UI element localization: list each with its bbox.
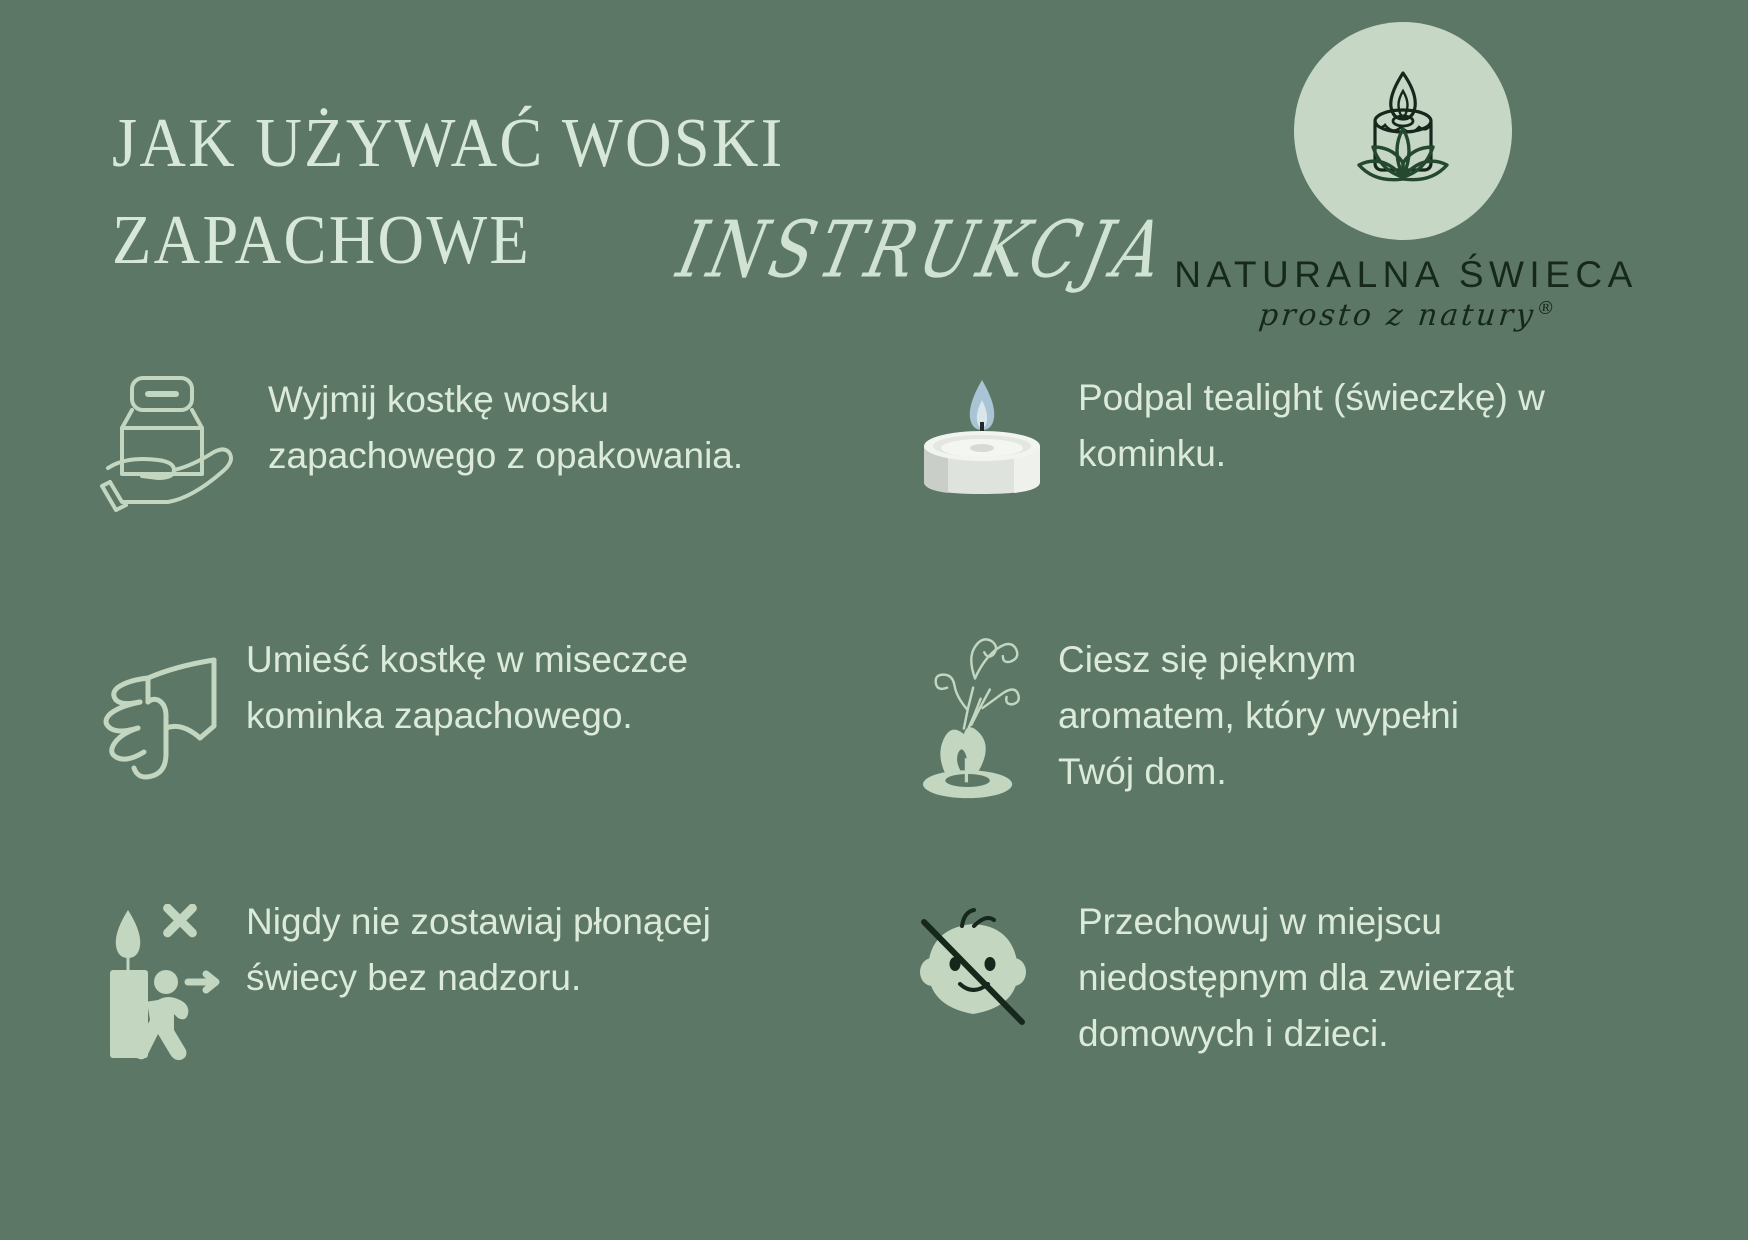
script-subtitle: INSTRUKCJA bbox=[670, 206, 1178, 296]
step-line: Umieść kostkę w miseczce bbox=[246, 632, 688, 688]
step-line: Nigdy nie zostawiaj płonącej bbox=[246, 894, 711, 950]
step-text-4: Ciesz się pięknym aromatem, który wypełn… bbox=[1040, 628, 1459, 801]
step-line: kominku. bbox=[1078, 426, 1545, 482]
step-line: domowych i dzieci. bbox=[1078, 1006, 1514, 1062]
tagline-text: prosto z natury bbox=[1257, 298, 1538, 333]
step-line: Przechowuj w miejscu bbox=[1078, 894, 1514, 950]
step-item-4: Ciesz się pięknym aromatem, który wypełn… bbox=[874, 628, 1748, 890]
step-text-6: Przechowuj w miejscu niedostępnym dla zw… bbox=[1060, 890, 1514, 1063]
step-line: niedostępnym dla zwierząt bbox=[1078, 950, 1514, 1006]
aroma-swirls-candle-icon bbox=[910, 614, 1040, 764]
step-text-1: Wyjmij kostkę wosku zapachowego z opakow… bbox=[246, 366, 743, 484]
brand-name: NATURALNA ŚWIECA bbox=[1174, 254, 1638, 296]
instruction-poster: JAK UŻYWAĆ WOSKI ZAPACHOWE INSTRUKCJA bbox=[0, 0, 1748, 1240]
brand-tagline: prosto z natury® bbox=[1257, 298, 1556, 333]
title-line-1: JAK UŻYWAĆ WOSKI bbox=[112, 96, 866, 193]
step-item-6: Przechowuj w miejscu niedostępnym dla zw… bbox=[874, 890, 1748, 1152]
brand-logo: NATURALNA ŚWIECA prosto z natury® bbox=[1196, 22, 1616, 333]
step-line: aromatem, który wypełni bbox=[1058, 688, 1459, 744]
registered-mark: ® bbox=[1535, 298, 1555, 319]
step-item-5: Nigdy nie zostawiaj płonącej świecy bez … bbox=[0, 890, 874, 1152]
tealight-candle-icon bbox=[910, 370, 1060, 520]
step-text-2: Podpal tealight (świeczkę) w kominku. bbox=[1060, 366, 1545, 482]
step-line: Twój dom. bbox=[1058, 744, 1459, 800]
step-item-3: Umieść kostkę w miseczce kominka zapacho… bbox=[0, 628, 874, 890]
step-text-3: Umieść kostkę w miseczce kominka zapacho… bbox=[246, 628, 688, 744]
step-line: Ciesz się pięknym bbox=[1058, 632, 1459, 688]
hand-holding-jar-icon bbox=[96, 366, 246, 516]
step-item-1: Wyjmij kostkę wosku zapachowego z opakow… bbox=[0, 366, 874, 628]
step-item-2: Podpal tealight (świeczkę) w kominku. bbox=[874, 366, 1748, 628]
candle-lotus-icon bbox=[1294, 22, 1512, 240]
step-line: Podpal tealight (świeczkę) w bbox=[1078, 370, 1545, 426]
steps-grid: Wyjmij kostkę wosku zapachowego z opakow… bbox=[0, 366, 1748, 1152]
step-text-5: Nigdy nie zostawiaj płonącej świecy bez … bbox=[246, 890, 711, 1006]
step-line: świecy bez nadzoru. bbox=[246, 950, 711, 1006]
hand-placing-icon bbox=[96, 646, 246, 796]
poster-header: JAK UŻYWAĆ WOSKI ZAPACHOWE INSTRUKCJA bbox=[0, 0, 1748, 350]
step-line: kominka zapachowego. bbox=[246, 688, 688, 744]
step-line: zapachowego z opakowania. bbox=[268, 428, 743, 484]
step-line: Wyjmij kostkę wosku bbox=[268, 372, 743, 428]
no-children-pets-icon bbox=[910, 906, 1060, 1056]
no-unattended-candle-icon bbox=[96, 904, 246, 1054]
